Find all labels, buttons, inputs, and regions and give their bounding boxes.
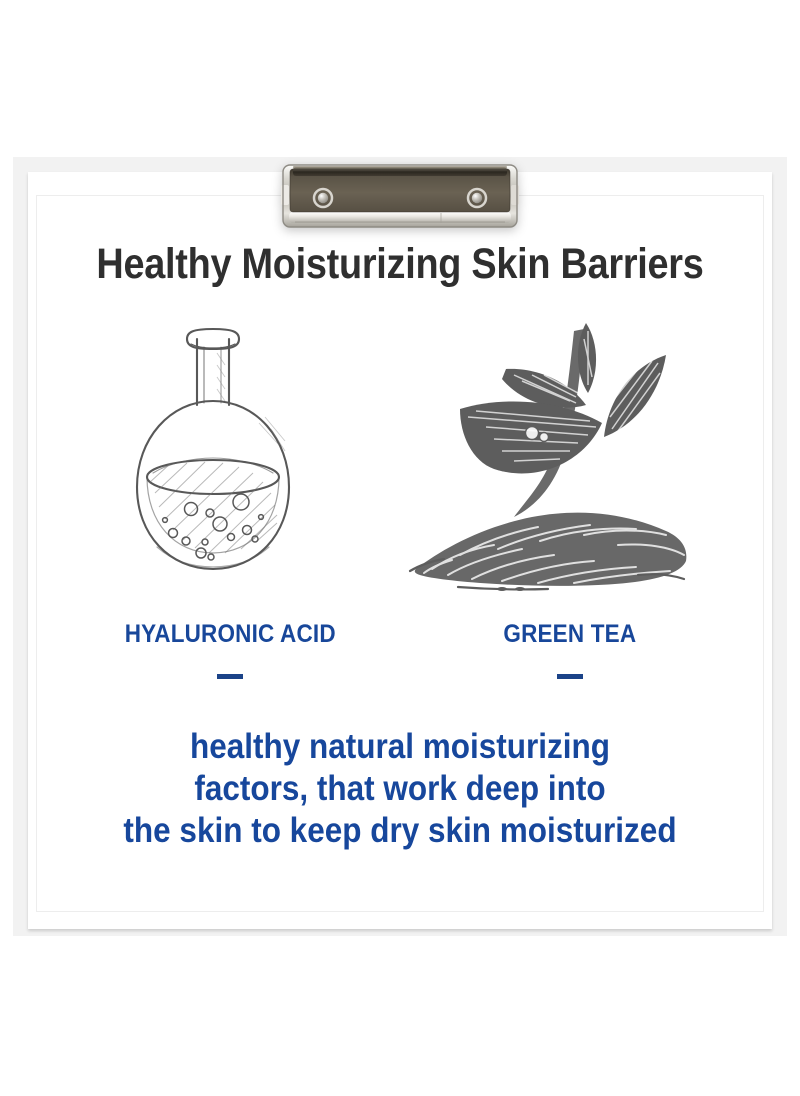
clipboard-clip-icon — [281, 163, 519, 229]
tea-leaves-icon — [398, 317, 688, 597]
laboratory-flask-icon — [113, 317, 313, 597]
label-divider-dash — [557, 674, 583, 679]
page-title: Healthy Moisturizing Skin Barriers — [48, 240, 752, 289]
body-copy-line: factors, that work deep into — [40, 768, 760, 810]
product-infographic-card: Healthy Moisturizing Skin Barriers — [0, 0, 800, 1096]
ingredient-label-row: HYALURONIC ACID GREEN TEA — [60, 620, 740, 679]
ingredient-label: HYALURONIC ACID — [124, 620, 335, 649]
body-copy-line: the skin to keep dry skin moisturized — [40, 810, 760, 852]
ingredient-label: GREEN TEA — [504, 620, 637, 649]
ingredient-green-tea: GREEN TEA — [400, 620, 740, 679]
body-copy: healthy natural moisturizing factors, th… — [0, 726, 800, 852]
body-copy-line: healthy natural moisturizing — [40, 726, 760, 768]
label-divider-dash — [217, 674, 243, 679]
illustration-row — [70, 312, 730, 597]
ingredient-hyaluronic-acid: HYALURONIC ACID — [60, 620, 400, 679]
